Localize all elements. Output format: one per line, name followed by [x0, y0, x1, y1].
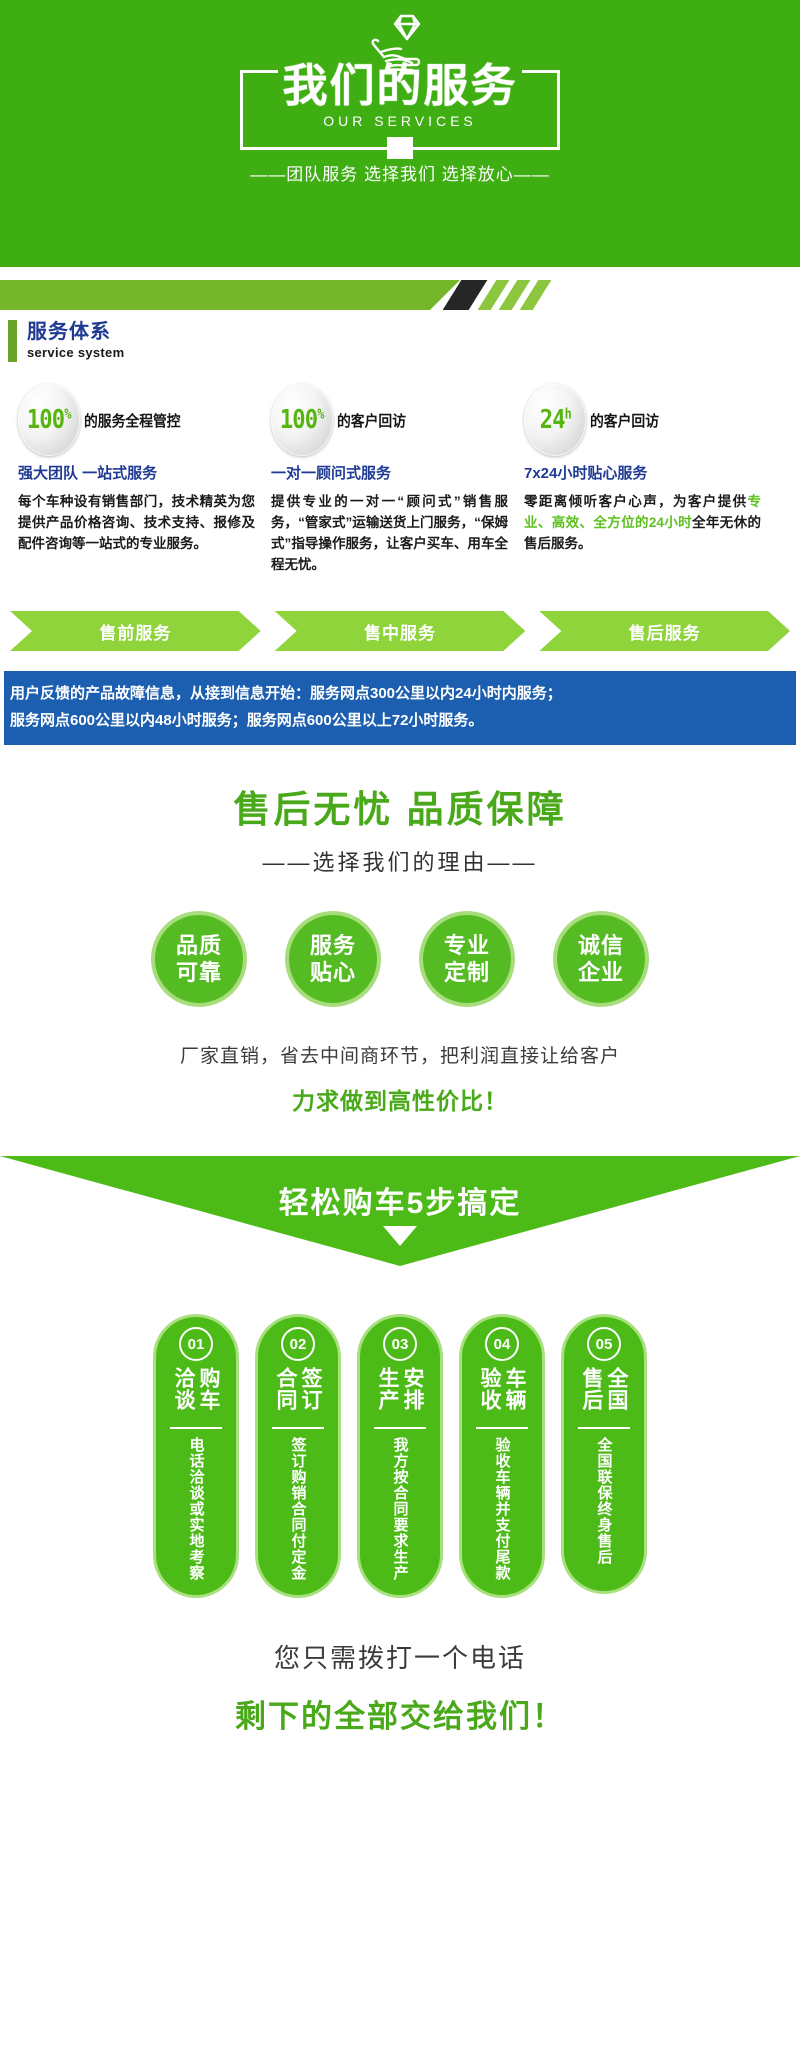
step-description: 签订购销合同付定金	[289, 1437, 308, 1581]
feature-body-1: 每个车种设有销售部门，技术精英为您提供产品价格咨询、技术支持、报修及配件咨询等一…	[18, 491, 255, 554]
reason-line-1: 品质	[176, 932, 222, 959]
step-name: 购车洽谈	[171, 1367, 221, 1419]
badge-unit: %	[65, 406, 71, 422]
badge-value: 24	[539, 405, 564, 435]
feature-columns: 100% 的服务全程管控 强大团队 一站式服务 每个车种设有销售部门，技术精英为…	[0, 384, 800, 575]
response-time-line-2: 服务网点600公里以内48小时服务；服务网点600公里以上72小时服务。	[10, 707, 790, 734]
hero-banner: 我们的服务 OUR SERVICES ——团队服务 选择我们 选择放心——	[0, 0, 800, 267]
feature-title-2: 一对一顾问式服务	[271, 462, 508, 483]
divider	[374, 1427, 426, 1429]
stage-presale[interactable]: 售前服务	[10, 611, 261, 651]
service-system-title: 服务体系	[27, 320, 124, 344]
step-name: 全国售后	[579, 1367, 629, 1419]
reason-line-1: 专业	[444, 932, 490, 959]
footer-line-2: 剩下的全部交给我们！	[0, 1691, 800, 1736]
feature-body-3-highlight-2: 24小时	[649, 515, 692, 530]
step-item-2: 02 签订合同 签订购销合同付定金	[255, 1314, 341, 1598]
step-description: 电话洽谈或实地考察	[187, 1437, 206, 1581]
feature-title-1: 强大团队 一站式服务	[18, 462, 255, 483]
reason-line-1: 服务	[310, 932, 356, 959]
badge-24h: 24h	[524, 384, 586, 456]
badge-value: 100	[280, 405, 317, 435]
step-description: 全国联保终身售后	[595, 1437, 614, 1565]
stage-aftersale[interactable]: 售后服务	[539, 611, 790, 651]
response-time-banner: 用户反馈的产品故障信息，从接到信息开始：服务网点300公里以内24小时内服务； …	[4, 671, 796, 745]
reason-line-2: 企业	[578, 959, 624, 986]
step-name: 车辆验收	[477, 1367, 527, 1419]
service-system-label: 服务体系 service system	[8, 320, 800, 362]
step-number: 04	[485, 1327, 519, 1361]
badge-label-1: 的服务全程管控	[84, 410, 181, 431]
service-page: 我们的服务 OUR SERVICES ——团队服务 选择我们 选择放心—— 服务…	[0, 0, 800, 1762]
divider	[170, 1427, 222, 1429]
reason-circle-custom: 专业 定制	[419, 911, 515, 1007]
steps-banner: 轻松购车5步搞定	[0, 1156, 800, 1296]
reason-line-1: 诚信	[578, 932, 624, 959]
step-item-1: 01 购车洽谈 电话洽谈或实地考察	[153, 1314, 239, 1598]
reason-circle-integrity: 诚信 企业	[553, 911, 649, 1007]
reason-circles: 品质 可靠 服务 贴心 专业 定制 诚信 企业	[0, 911, 800, 1007]
step-item-3: 03 安排生产 我方按合同要求生产	[357, 1314, 443, 1598]
feature-card-3: 24h 的客户回访 7x24小时贴心服务 零距离倾听客户心声，为客户提供专业、高…	[516, 384, 769, 575]
step-description: 验收车辆并支付尾款	[493, 1437, 512, 1581]
reason-line-2: 可靠	[176, 959, 222, 986]
reason-line-2: 定制	[444, 959, 490, 986]
feature-body-3: 零距离倾听客户心声，为客户提供专业、高效、全方位的24小时全年无休的售后服务。	[524, 491, 761, 554]
badge-unit: h	[564, 406, 570, 422]
badge-label-2: 的客户回访	[337, 410, 406, 431]
steps-banner-title: 轻松购车5步搞定	[0, 1178, 800, 1222]
step-name: 签订合同	[273, 1367, 323, 1419]
feature-card-2: 100% 的客户回访 一对一顾问式服务 提供专业的一对一“顾问式”销售服务，“管…	[263, 384, 516, 575]
step-item-4: 04 车辆验收 验收车辆并支付尾款	[459, 1314, 545, 1598]
badge-value: 100	[27, 405, 64, 435]
badge-100-percent-2: 100%	[271, 384, 333, 456]
service-system-subtitle: service system	[27, 344, 124, 362]
feature-body-3-pre: 零距离倾听客户心声，为客户提供	[524, 494, 748, 509]
feature-card-1: 100% 的服务全程管控 强大团队 一站式服务 每个车种设有销售部门，技术精英为…	[10, 384, 263, 575]
hero-tagline: ——团队服务 选择我们 选择放心——	[0, 160, 800, 185]
step-number: 02	[281, 1327, 315, 1361]
step-number: 01	[179, 1327, 213, 1361]
accent-bar	[8, 320, 17, 362]
reason-line-2: 贴心	[310, 959, 356, 986]
badge-100-percent-1: 100%	[18, 384, 80, 456]
footer-line-1: 您只需拨打一个电话	[0, 1638, 800, 1675]
chevron-down-icon	[383, 1226, 417, 1246]
reason-circle-quality: 品质 可靠	[151, 911, 247, 1007]
reasons-title: 售后无忧 品质保障	[0, 779, 800, 833]
step-number: 03	[383, 1327, 417, 1361]
reason-circle-service: 服务 贴心	[285, 911, 381, 1007]
divider	[578, 1427, 630, 1429]
step-description: 我方按合同要求生产	[391, 1437, 410, 1581]
reasons-subtitle: ——选择我们的理由——	[0, 845, 800, 877]
step-number: 05	[587, 1327, 621, 1361]
badge-label-3: 的客户回访	[590, 410, 659, 431]
page-title: 我们的服务	[0, 60, 800, 112]
divider	[476, 1427, 528, 1429]
response-time-line-1: 用户反馈的产品故障信息，从接到信息开始：服务网点300公里以内24小时内服务；	[10, 680, 790, 707]
promo-line-1: 厂家直销，省去中间商环节，把利润直接让给客户	[0, 1041, 800, 1068]
step-item-5: 05 全国售后 全国联保终身售后	[561, 1314, 647, 1598]
purchase-steps: 01 购车洽谈 电话洽谈或实地考察 02 签订合同 签订购销合同付定金 03 安…	[0, 1314, 800, 1598]
divider	[272, 1427, 324, 1429]
badge-unit: %	[318, 406, 324, 422]
feature-title-3: 7x24小时贴心服务	[524, 462, 761, 483]
promo-line-2: 力求做到高性价比！	[0, 1082, 800, 1116]
stage-midsale[interactable]: 售中服务	[275, 611, 526, 651]
feature-body-2: 提供专业的一对一“顾问式”销售服务，“管家式”运输送货上门服务，“保姆式”指导操…	[271, 491, 508, 575]
service-stage-arrows: 售前服务 售中服务 售后服务	[10, 611, 790, 651]
service-system-bar	[0, 280, 800, 310]
page-subtitle: OUR SERVICES	[0, 113, 800, 129]
step-name: 安排生产	[375, 1367, 425, 1419]
